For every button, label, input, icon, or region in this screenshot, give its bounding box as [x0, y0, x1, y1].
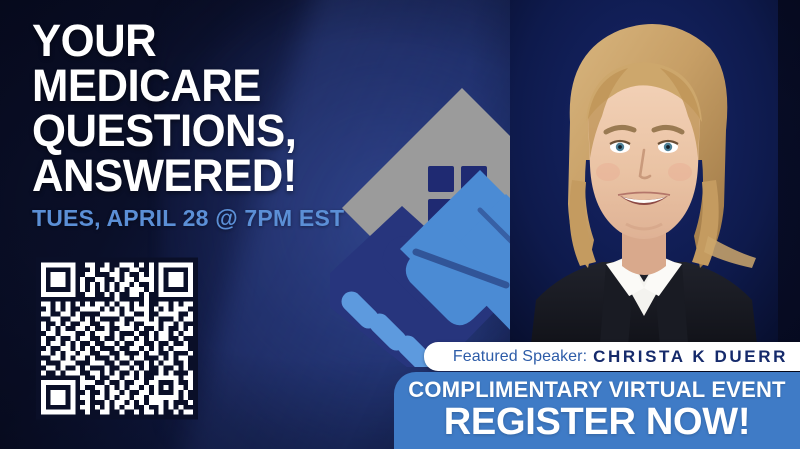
headline-line-1: YOUR [32, 18, 439, 63]
speaker-headshot [510, 0, 778, 370]
cta-event-type: COMPLIMENTARY VIRTUAL EVENT [408, 378, 785, 402]
promo-banner: YOUR MEDICARE QUESTIONS, ANSWERED! TUES,… [0, 0, 800, 449]
qr-code[interactable] [36, 257, 198, 420]
headline-block: YOUR MEDICARE QUESTIONS, ANSWERED! TUES,… [32, 18, 452, 231]
event-date: TUES, APRIL 28 @ 7PM EST [32, 205, 452, 231]
headline-line-4: ANSWERED! [32, 153, 439, 198]
register-cta-panel[interactable]: COMPLIMENTARY VIRTUAL EVENT REGISTER NOW… [394, 372, 800, 449]
featured-speaker-label: Featured Speaker: [453, 348, 587, 366]
headline-line-2: MEDICARE [32, 63, 439, 108]
featured-speaker-name: CHRISTA K DUERR [593, 347, 788, 367]
cta-register-now: REGISTER NOW! [444, 402, 750, 442]
headline-line-3: QUESTIONS, [32, 108, 439, 153]
featured-speaker-bar: Featured Speaker: CHRISTA K DUERR [424, 342, 800, 371]
